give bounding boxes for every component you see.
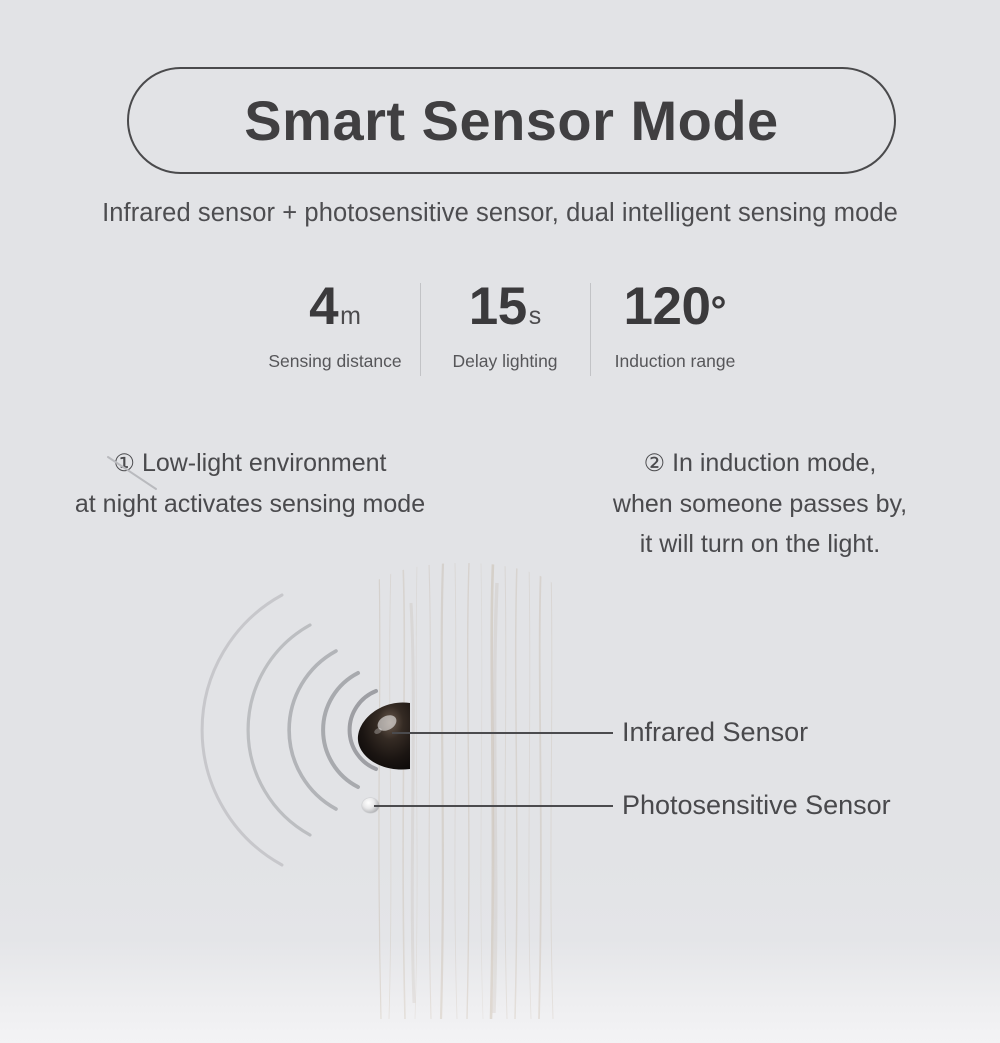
note-text: In induction mode, (672, 449, 876, 477)
note-marker: ① (113, 450, 135, 477)
subtitle-text: Infrared sensor + photosensitive sensor,… (0, 199, 1000, 228)
cylinder-top-shade (365, 563, 561, 603)
spec-unit: ° (710, 291, 726, 331)
spec-number: 4 (309, 280, 338, 333)
spec-value: 120 ° (624, 280, 727, 342)
note-low-light: ① Low-light environment at night activat… (20, 443, 480, 524)
callout-label-infrared-sensor: Infrared Sensor (622, 719, 808, 746)
note-text: Low-light environment (142, 449, 387, 477)
spec-number: 15 (469, 280, 527, 333)
note-line: when someone passes by, (540, 484, 980, 525)
spec-label: Induction range (615, 351, 736, 372)
spec-induction-range: 120 ° Induction range (590, 280, 760, 372)
infographic-page: Smart Sensor Mode Infrared sensor + phot… (0, 0, 1000, 1043)
wood-grain-texture (365, 563, 561, 1019)
spec-number: 120 (624, 280, 711, 333)
note-line: ① Low-light environment (20, 443, 480, 484)
spec-label: Delay lighting (452, 351, 557, 372)
callout-label-photosensitive-sensor: Photosensitive Sensor (622, 792, 891, 819)
infrared-sensor-dome (354, 697, 412, 775)
callout-line-infrared (392, 732, 613, 734)
title-badge: Smart Sensor Mode (127, 67, 896, 174)
spec-row: 4 m Sensing distance 15 s Delay lighting… (250, 280, 760, 380)
page-title: Smart Sensor Mode (244, 93, 778, 149)
note-marker: ② (644, 450, 666, 477)
spec-label: Sensing distance (268, 351, 401, 372)
spec-sensing-distance: 4 m Sensing distance (250, 280, 420, 372)
note-line: at night activates sensing mode (20, 484, 480, 525)
note-line: ② In induction mode, (540, 443, 980, 484)
wood-lamp-body (365, 563, 561, 1019)
spec-unit: s (529, 304, 542, 329)
product-illustration: Infrared Sensor Photosensitive Sensor (0, 540, 1000, 1043)
callout-line-photosensitive (374, 805, 613, 807)
spec-delay-lighting: 15 s Delay lighting (420, 280, 590, 372)
spec-unit: m (340, 304, 361, 329)
spec-value: 15 s (469, 280, 541, 342)
spec-value: 4 m (309, 280, 361, 342)
